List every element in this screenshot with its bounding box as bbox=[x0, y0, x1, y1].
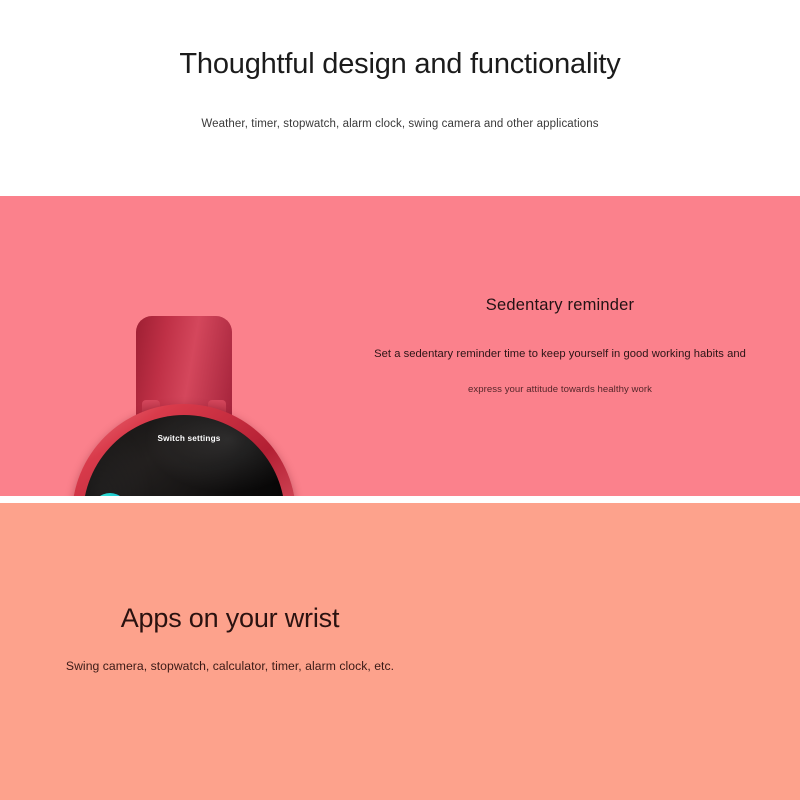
watch-glass-reflection bbox=[83, 415, 285, 496]
apps-subtitle: Swing camera, stopwatch, calculator, tim… bbox=[30, 659, 430, 673]
apps-section: Apps on your wrist Swing camera, stopwat… bbox=[0, 503, 800, 800]
hero-subtitle: Weather, timer, stopwatch, alarm clock, … bbox=[0, 118, 800, 130]
apps-heading: Apps on your wrist bbox=[30, 603, 430, 634]
watch-screen-settings[interactable]: Switch settings achievement reminder bbox=[83, 415, 285, 496]
product-page: Thoughtful design and functionality Weat… bbox=[0, 0, 800, 800]
sedentary-reminder-section: Switch settings achievement reminder bbox=[0, 196, 800, 496]
smartwatch-settings: Switch settings achievement reminder bbox=[72, 404, 296, 496]
sedentary-heading: Sedentary reminder bbox=[360, 296, 760, 315]
medal-icon bbox=[92, 493, 128, 496]
page-title: Thoughtful design and functionality bbox=[0, 48, 800, 81]
settings-screen-title: Switch settings bbox=[83, 434, 285, 443]
sedentary-body-line-2: express your attitude towards healthy wo… bbox=[360, 384, 760, 395]
setting-row-achievement[interactable]: achievement reminder bbox=[83, 493, 285, 496]
sedentary-body-line-1: Set a sedentary reminder time to keep yo… bbox=[360, 348, 760, 360]
hero-section: Thoughtful design and functionality Weat… bbox=[0, 0, 800, 196]
apps-copy-block: Apps on your wrist Swing camera, stopwat… bbox=[30, 603, 430, 673]
sedentary-copy-block: Sedentary reminder Set a sedentary remin… bbox=[360, 296, 760, 395]
